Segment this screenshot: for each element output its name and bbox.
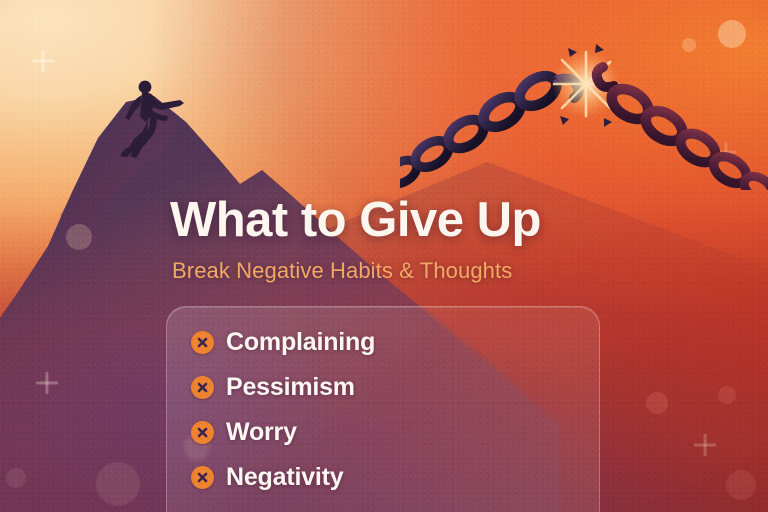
grain-overlay	[0, 0, 768, 512]
poster-canvas: What to Give Up Break Negative Habits & …	[0, 0, 768, 512]
